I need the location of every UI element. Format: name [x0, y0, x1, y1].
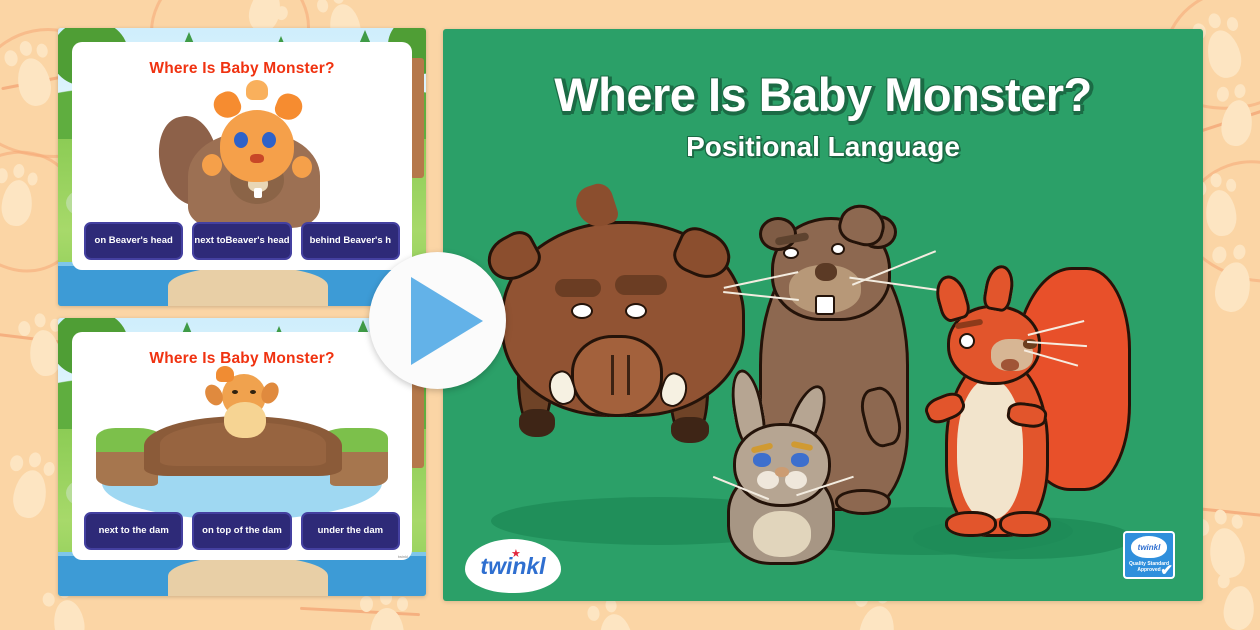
boar-eye-right [625, 303, 647, 319]
screenshot-root: Where Is Baby Monster? [0, 0, 1260, 630]
paw-print-icon [0, 179, 34, 228]
squirrel-ear-right [981, 263, 1017, 313]
squirrel-foot-left [945, 511, 997, 537]
beaver-teeth [815, 295, 835, 315]
monster-eye-right [262, 132, 276, 148]
option-button[interactable]: on Beaver's head [84, 222, 183, 260]
squirrel-belly [957, 379, 1023, 519]
play-triangle-icon [411, 277, 483, 365]
badge-brand: twinkl [1138, 543, 1161, 552]
monster-tuft [246, 80, 268, 100]
paw-print-icon [51, 598, 87, 630]
check-icon: ✔ [1160, 561, 1173, 579]
play-button[interactable] [369, 252, 506, 389]
tree-trunk [410, 58, 424, 178]
paw-print-icon [1206, 525, 1248, 580]
monster-arm-right [292, 156, 312, 178]
rabbit-eye-right [791, 453, 809, 467]
squirrel-eye [959, 333, 975, 349]
slide-options: on Beaver's head next to Beaver's head b… [84, 222, 400, 260]
sandbar [168, 556, 328, 596]
page-subtitle: Positional Language [443, 131, 1203, 163]
boar-hoof-left [519, 409, 555, 437]
paw-print-icon [1219, 98, 1255, 148]
rabbit-belly [753, 511, 811, 557]
paw-print-icon [1203, 27, 1246, 81]
monster-belly [224, 402, 266, 438]
rabbit-eye-left [753, 453, 771, 467]
option-line: Beaver's head [226, 236, 290, 247]
paw-streak [300, 607, 420, 616]
monster-tuft [216, 366, 234, 382]
option-button[interactable]: behind Beaver's h [301, 222, 400, 260]
paw-print-icon [1211, 259, 1255, 315]
quality-standard-badge: twinkl Quality Standard Approved ✔ [1123, 531, 1175, 579]
beaver-eye-right [831, 243, 845, 255]
slide-illustration [158, 80, 338, 230]
badge-cloud: twinkl [1131, 536, 1167, 558]
slide-options: next to the dam on top of the dam under … [84, 512, 400, 550]
page-title: Where Is Baby Monster? [443, 67, 1203, 122]
monster-eye-left [234, 132, 248, 148]
slide-credit: twinkl [398, 554, 408, 559]
boar-nostril-line [611, 355, 614, 395]
star-icon: ★ [511, 547, 521, 560]
slide-thumbnail-1[interactable]: Where Is Baby Monster? [58, 28, 426, 306]
option-button[interactable]: next to the dam [84, 512, 183, 550]
paw-print-icon [1204, 189, 1239, 238]
option-button[interactable]: next to Beaver's head [192, 222, 291, 260]
boar-nostril-line [627, 355, 630, 395]
option-line: next to [194, 236, 225, 247]
slide-thumbnail-2[interactable]: Where Is Baby Monster? [58, 318, 426, 596]
beaver-nose [815, 263, 837, 281]
rabbit-nose [775, 467, 789, 477]
slide-title: Where Is Baby Monster? [72, 60, 412, 78]
monster-head [220, 110, 294, 182]
monster-arm-left [202, 154, 222, 176]
paw-print-icon [856, 603, 898, 630]
paw-print-icon [10, 468, 50, 521]
beaver-teeth [254, 188, 262, 198]
rabbit-illustration [713, 359, 853, 571]
monster-eye-left [232, 390, 238, 394]
boar-brow-left [555, 279, 601, 297]
monster-mouth [250, 154, 264, 163]
boar-brow-right [615, 275, 667, 295]
squirrel-illustration [923, 261, 1133, 561]
paw-print-icon [13, 55, 54, 109]
slide-card: Where Is Baby Monster? [72, 332, 412, 560]
monster-arm-left [202, 381, 227, 408]
badge-line-2: Approved [1137, 567, 1160, 573]
twinkl-logo: twinkl ★ [465, 539, 561, 593]
paw-print-icon [1222, 585, 1256, 630]
boar-snout [571, 335, 663, 417]
option-button[interactable]: under the dam [301, 512, 400, 550]
boar-eye-left [571, 303, 593, 319]
sandbar [168, 266, 328, 306]
squirrel-foot-right [999, 511, 1051, 537]
slide-title: Where Is Baby Monster? [72, 350, 412, 368]
main-preview-panel[interactable]: Where Is Baby Monster? Positional Langua… [443, 29, 1203, 601]
boar-hoof-right [671, 417, 709, 443]
squirrel-mouth [1001, 359, 1019, 371]
slide-illustration [96, 380, 386, 526]
rabbit-head [733, 423, 831, 507]
slide-card: Where Is Baby Monster? [72, 42, 412, 270]
beaver-eye-left [783, 247, 799, 259]
monster-eye-right [250, 390, 256, 394]
squirrel-ear-left [931, 272, 973, 324]
paw-print-icon [370, 608, 404, 630]
paw-print-icon [597, 612, 635, 630]
option-button[interactable]: on top of the dam [192, 512, 291, 550]
